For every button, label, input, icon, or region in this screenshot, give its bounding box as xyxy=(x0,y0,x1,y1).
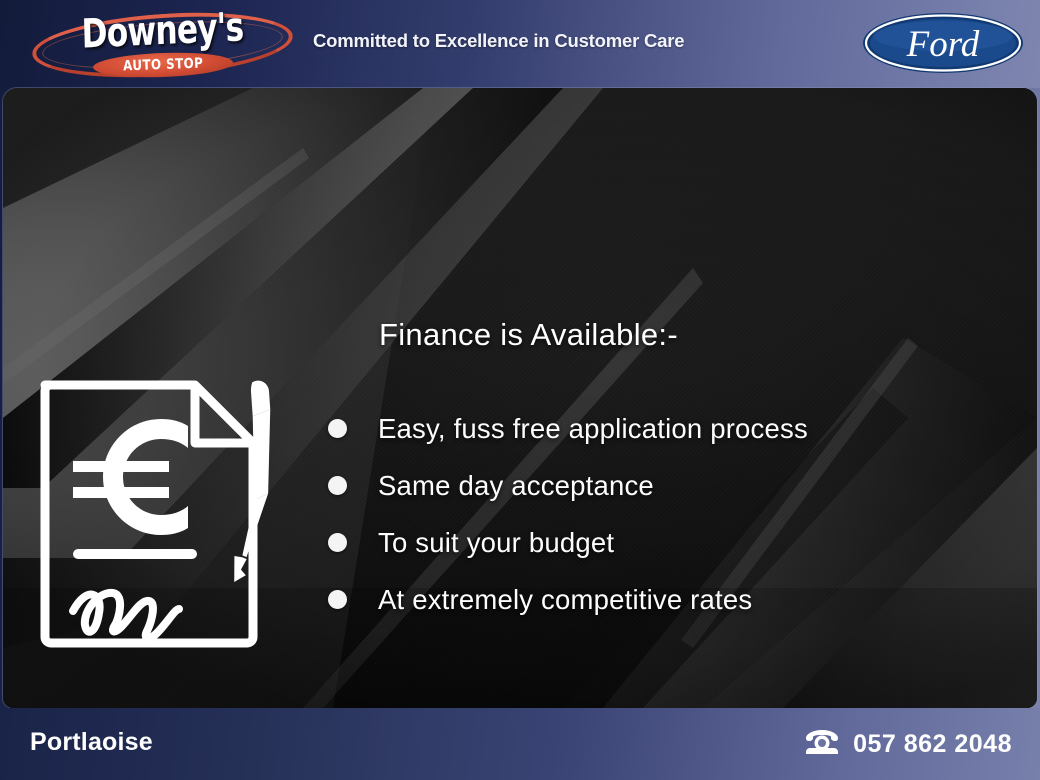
downeys-auto-stop-logo[interactable]: Downey's AUTO STOP xyxy=(30,6,295,82)
list-item-label: Easy, fuss free application process xyxy=(378,413,808,445)
bullet-dot-icon xyxy=(328,476,347,495)
finance-advertisement: Downey's AUTO STOP Committed to Excellen… xyxy=(0,0,1040,780)
header-bar: Downey's AUTO STOP Committed to Excellen… xyxy=(0,0,1040,88)
footer-bar: Portlaoise 057 862 2048 xyxy=(0,708,1040,780)
telephone-icon xyxy=(805,729,839,759)
document-ruled-line xyxy=(73,549,197,559)
brand-name: Downey's xyxy=(59,3,267,58)
main-panel: Finance is Available:- Easy, fuss free a… xyxy=(3,88,1037,708)
tagline: Committed to Excellence in Customer Care xyxy=(313,30,684,52)
bullet-dot-icon xyxy=(328,533,347,552)
list-item-label: Same day acceptance xyxy=(378,470,654,502)
list-item: Same day acceptance xyxy=(328,457,1008,514)
euro-contract-signature-icon xyxy=(37,371,307,651)
phone-number[interactable]: 057 862 2048 xyxy=(853,730,1012,759)
bullet-dot-icon xyxy=(328,419,347,438)
list-item: At extremely competitive rates xyxy=(328,571,1008,628)
brand-subtitle: AUTO STOP xyxy=(123,56,204,75)
list-item: Easy, fuss free application process xyxy=(328,400,1008,457)
ford-wordmark: Ford xyxy=(906,24,980,65)
list-item-label: At extremely competitive rates xyxy=(378,584,752,616)
signature-squiggle xyxy=(73,593,179,638)
list-item: To suit your budget xyxy=(328,514,1008,571)
ford-logo[interactable]: Ford xyxy=(862,12,1024,74)
euro-symbol xyxy=(73,419,188,535)
location-label: Portlaoise xyxy=(30,728,153,757)
page-title: Finance is Available:- xyxy=(379,317,678,353)
bullet-dot-icon xyxy=(328,590,347,609)
contact-block[interactable]: 057 862 2048 xyxy=(805,729,1012,759)
benefits-list: Easy, fuss free application process Same… xyxy=(328,400,1008,628)
list-item-label: To suit your budget xyxy=(378,527,614,559)
